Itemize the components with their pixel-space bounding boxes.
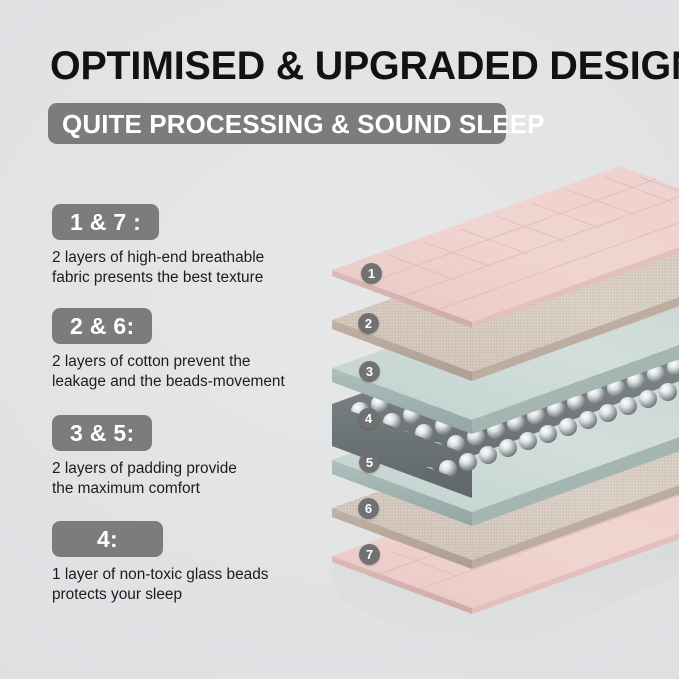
layer-6-beige-cotton bbox=[332, 404, 679, 569]
layer-badge-4: 4 bbox=[358, 408, 379, 429]
feature-item-3: 3 & 5: 2 layers of padding provide the m… bbox=[52, 415, 312, 498]
layer-badge-1: 1 bbox=[361, 263, 382, 284]
feature-item-2: 2 & 6: 2 layers of cotton prevent the le… bbox=[52, 308, 312, 391]
layer-badge-2: 2 bbox=[358, 313, 379, 334]
layer-badge-5: 5 bbox=[359, 452, 380, 473]
subtitle-banner: QUITE PROCESSING & SOUND SLEEP bbox=[48, 103, 506, 144]
layer-badge-6-number: 6 bbox=[365, 502, 372, 515]
feature-4-description: 1 layer of non-toxic glass beads protect… bbox=[52, 565, 312, 604]
layer-badge-3-number: 3 bbox=[366, 365, 373, 378]
layer-badge-1-number: 1 bbox=[368, 267, 375, 280]
feature-2-description: 2 layers of cotton prevent the leakage a… bbox=[52, 352, 312, 391]
feature-1-pill-label: 1 & 7 : bbox=[70, 210, 141, 234]
layer-badge-7: 7 bbox=[359, 544, 380, 565]
layer-badge-2-number: 2 bbox=[365, 317, 372, 330]
feature-1-pill: 1 & 7 : bbox=[52, 204, 159, 240]
layer-badge-4-number: 4 bbox=[365, 412, 372, 425]
subtitle-text: QUITE PROCESSING & SOUND SLEEP bbox=[62, 110, 545, 138]
feature-4-pill: 4: bbox=[52, 521, 163, 557]
layer-badge-5-number: 5 bbox=[366, 456, 373, 469]
page-title: OPTIMISED & UPGRADED DESIGN bbox=[50, 44, 641, 88]
feature-2-pill: 2 & 6: bbox=[52, 308, 152, 344]
feature-item-4: 4: 1 layer of non-toxic glass beads prot… bbox=[52, 521, 312, 604]
product-infographic: OPTIMISED & UPGRADED DESIGN QUITE PROCES… bbox=[0, 0, 679, 679]
feature-3-pill: 3 & 5: bbox=[52, 415, 152, 451]
feature-3-description: 2 layers of padding provide the maximum … bbox=[52, 459, 312, 498]
layer-badge-6: 6 bbox=[358, 498, 379, 519]
feature-4-pill-label: 4: bbox=[97, 527, 118, 551]
layer-2-beige-cotton bbox=[332, 216, 679, 381]
layer-badge-3: 3 bbox=[359, 361, 380, 382]
layer-3-mint-padding bbox=[332, 264, 679, 434]
layer-7-pink-fabric bbox=[330, 452, 679, 666]
layer-1-pink-fabric bbox=[332, 166, 679, 328]
feature-2-pill-label: 2 & 6: bbox=[70, 314, 134, 338]
feature-3-pill-label: 3 & 5: bbox=[70, 421, 134, 445]
layer-badge-7-number: 7 bbox=[366, 548, 373, 561]
feature-item-1: 1 & 7 : 2 layers of high-end breathable … bbox=[52, 204, 312, 287]
layer-5-mint-padding bbox=[332, 356, 679, 526]
feature-1-description: 2 layers of high-end breathable fabric p… bbox=[52, 248, 312, 287]
